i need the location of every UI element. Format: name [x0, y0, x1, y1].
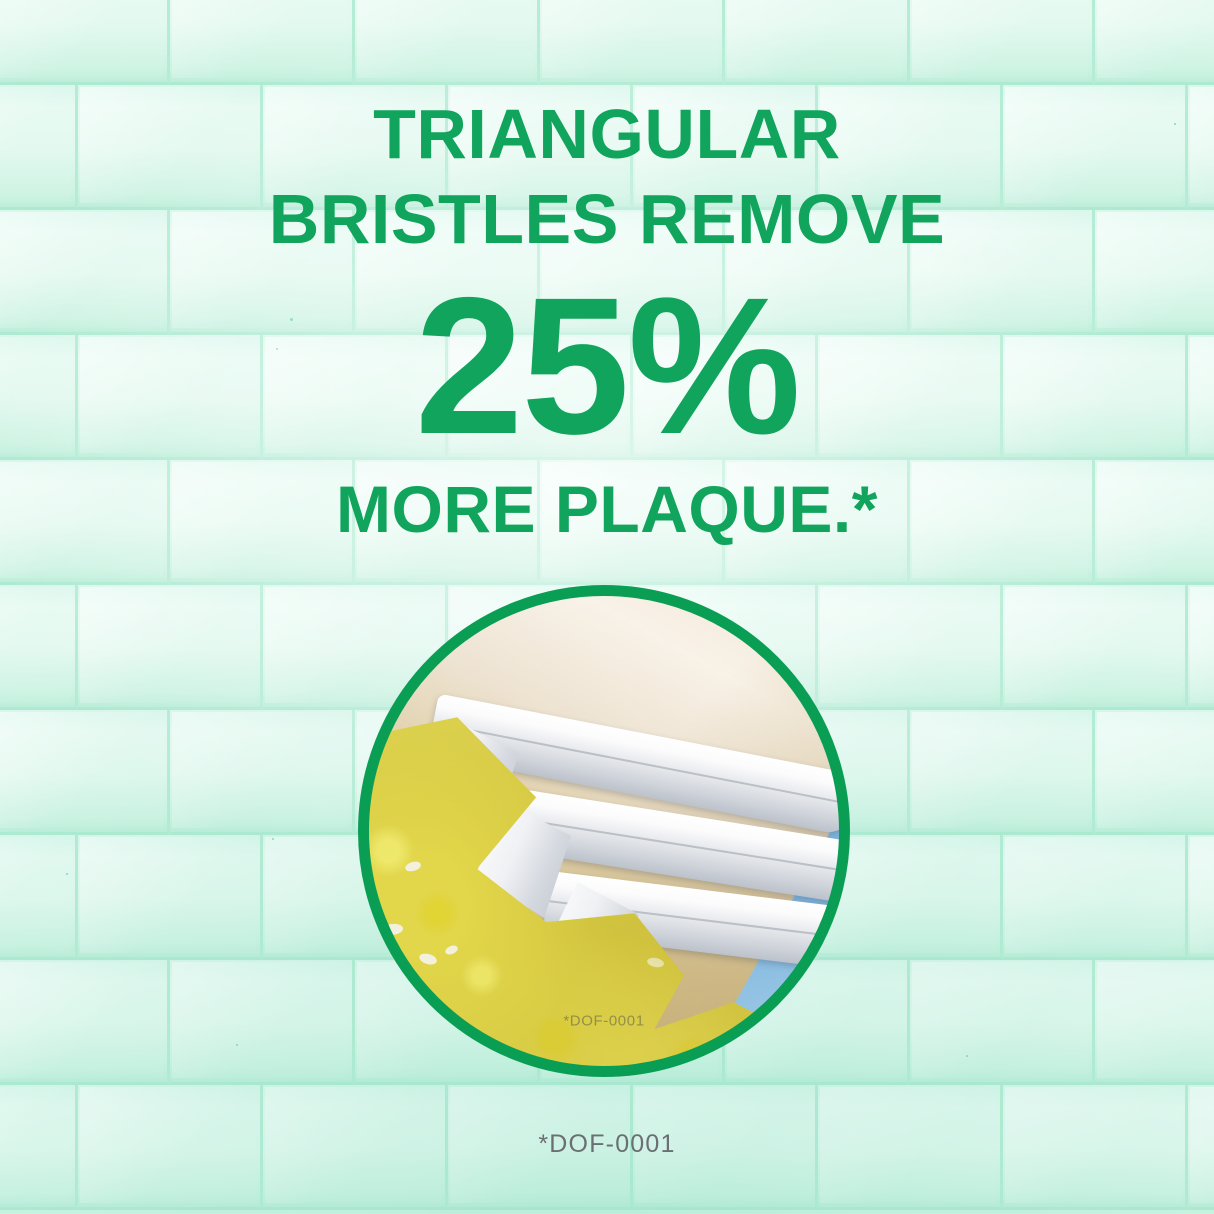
ad-canvas: TRIANGULAR BRISTLES REMOVE 25% MORE PLAQ…	[0, 0, 1214, 1214]
headline-line-1: TRIANGULAR	[0, 92, 1214, 177]
product-illustration: *DOF-0001	[358, 585, 850, 1077]
headline-line-2: BRISTLES REMOVE	[0, 177, 1214, 262]
subline-more-plaque: MORE PLAQUE.*	[0, 473, 1214, 545]
footnote-reference: *DOF-0001	[0, 1130, 1214, 1159]
stat-percentage: 25%	[0, 274, 1214, 459]
claim-text-block: TRIANGULAR BRISTLES REMOVE 25% MORE PLAQ…	[0, 92, 1214, 545]
illustration-media: *DOF-0001	[367, 594, 841, 1068]
illustration-watermark: *DOF-0001	[563, 1012, 644, 1029]
